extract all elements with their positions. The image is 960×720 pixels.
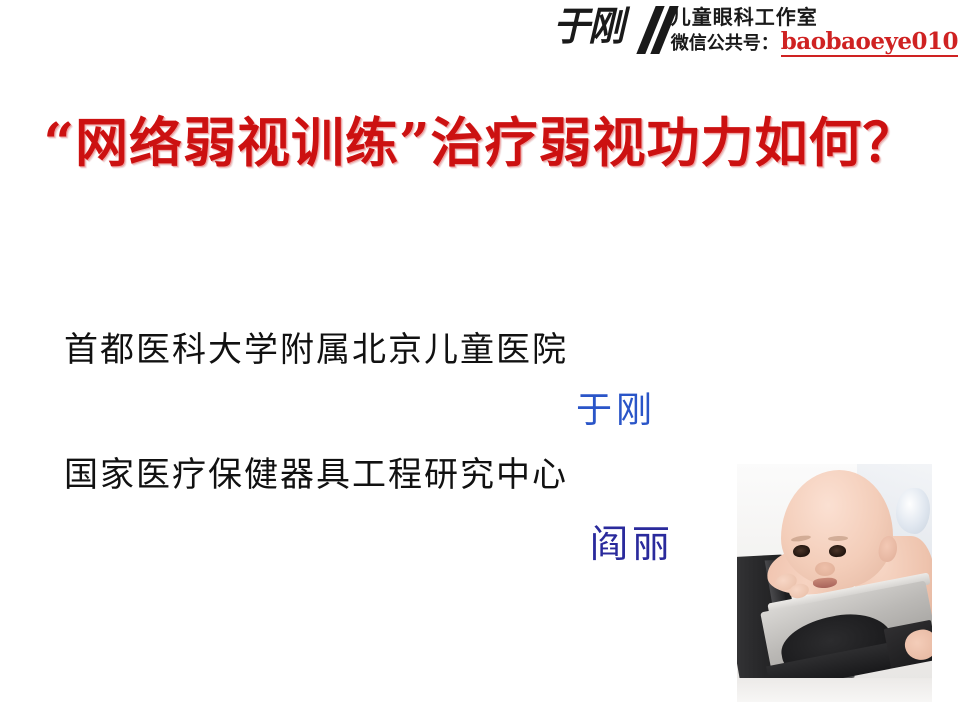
institution-line-2: 国家医疗保健器具工程研究中心: [64, 447, 568, 496]
author-name-1: 于刚: [576, 381, 656, 433]
slide-title: “网络弱视训练”治疗弱视功力如何？: [0, 101, 960, 177]
wechat-line: 微信公共号： baobaoeye010: [671, 29, 958, 57]
wechat-label: 微信公共号：: [671, 31, 779, 57]
yugang-brand-mark-icon: 于刚: [549, 2, 671, 60]
wechat-id-value: baobaoeye010: [781, 29, 958, 57]
photo-floor-strip: [737, 678, 932, 702]
photo-background-object: [896, 488, 930, 534]
baby-laptop-photo: [737, 464, 932, 702]
presentation-slide: 于刚 儿童眼科工作室 微信公共号： baobaoeye010 “网络弱视训练”治…: [0, 0, 960, 720]
brand-mark-text: 于刚: [553, 4, 623, 50]
author-name-2: 阎丽: [590, 513, 674, 568]
brand-text-group: 儿童眼科工作室 微信公共号： baobaoeye010: [671, 2, 958, 57]
institution-line-1: 首都医科大学附属北京儿童医院: [64, 322, 568, 371]
studio-name-label: 儿童眼科工作室: [671, 5, 958, 29]
brand-logo-block: 于刚 儿童眼科工作室 微信公共号： baobaoeye010: [549, 2, 958, 64]
baby-nose: [815, 562, 835, 576]
